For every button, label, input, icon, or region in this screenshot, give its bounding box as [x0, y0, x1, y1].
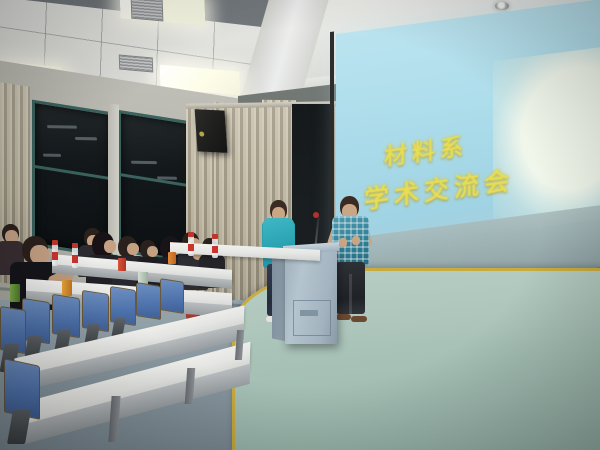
projection-screen: 材料系 学术交流会 — [336, 0, 600, 302]
podium-front-panel — [293, 300, 331, 336]
presenter-hand-right — [352, 236, 360, 245]
beverage-can — [118, 258, 126, 271]
presenter-plaid-shirt — [332, 216, 369, 266]
beverage-can — [168, 252, 176, 264]
presenter-hand-left — [339, 238, 347, 247]
lecture-hall-photo: 材料系 学术交流会 — [0, 0, 600, 450]
podium-plaque — [300, 310, 318, 316]
window-reflection — [43, 154, 61, 157]
bottle-cap — [72, 243, 78, 248]
bottle-label — [72, 255, 78, 263]
presenter-sandal — [351, 316, 367, 322]
bottle-label — [212, 246, 218, 253]
screen-glare — [493, 44, 600, 233]
ceiling-vent — [119, 54, 154, 72]
beverage-can — [62, 280, 72, 296]
window-reflection — [131, 161, 157, 164]
window-reflection — [157, 176, 177, 179]
bottle-cap — [212, 234, 218, 239]
lecture-seat — [136, 282, 161, 320]
presenter-sandal — [336, 314, 351, 320]
beverage-can — [10, 284, 20, 302]
bottle-cap — [188, 232, 194, 237]
audience-face — [127, 243, 139, 255]
bottle-label — [188, 244, 194, 251]
downlight-icon — [495, 2, 509, 10]
window-mullion — [108, 103, 119, 255]
ceiling-vent — [131, 0, 164, 21]
audience-face — [104, 240, 116, 253]
bottle-cap — [52, 240, 58, 245]
bottle-label — [52, 252, 58, 260]
presenter-trousers — [336, 262, 365, 314]
audience-face — [147, 246, 158, 257]
lecture-seat — [160, 278, 184, 314]
window-reflection — [75, 137, 97, 140]
microphone-head-icon — [313, 212, 319, 218]
slide-title-line-1: 材料系 — [384, 127, 468, 172]
window-reflection — [47, 125, 77, 129]
wall-speaker-icon — [195, 109, 228, 153]
